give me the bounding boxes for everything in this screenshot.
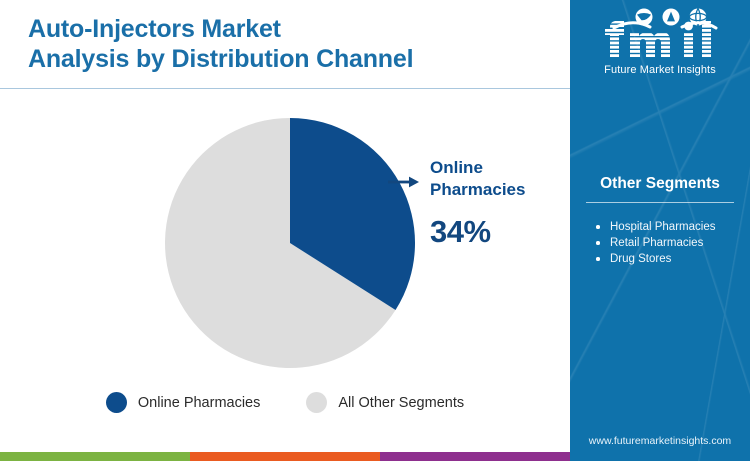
color-bar-segment-purple [380,452,570,461]
legend-item-online-pharmacies: Online Pharmacies [106,392,261,413]
logo-tagline: Future Market Insights [570,64,750,76]
pie-chart-graphic [165,118,415,368]
page-title: Auto-Injectors Market Analysis by Distri… [28,14,548,74]
circle-swatch-icon [106,392,127,413]
other-segments-panel: Other Segments Hospital Pharmacies Retai… [570,175,750,267]
list-item: Retail Pharmacies [594,235,750,251]
title-line-1: Auto-Injectors Market [28,14,548,44]
other-segments-title: Other Segments [570,175,750,193]
callout-text-block: Online Pharmacies 34% [430,157,565,249]
other-segments-divider [586,202,734,203]
chart-legend: Online Pharmacies All Other Segments [0,392,570,413]
arrow-right-icon [388,176,420,188]
color-bar-segment-orange [190,452,380,461]
sidebar: Future Market Insights Other Segments Ho… [570,0,750,461]
website-url[interactable]: www.futuremarketinsights.com [570,435,750,447]
fmi-logo: Future Market Insights [570,8,750,76]
list-item: Hospital Pharmacies [594,219,750,235]
callout-label-line-1: Online [430,157,565,179]
legend-label: All Other Segments [338,395,464,411]
legend-item-all-other-segments: All Other Segments [306,392,464,413]
list-item: Drug Stores [594,251,750,267]
callout-percentage-value: 34% [430,215,565,249]
circle-swatch-icon [306,392,327,413]
pie-chart: Online Pharmacies 34% [0,95,570,385]
legend-label: Online Pharmacies [138,395,261,411]
callout-label-line-2: Pharmacies [430,179,565,201]
fmi-wordmark-icon [596,8,724,62]
other-segments-list: Hospital Pharmacies Retail Pharmacies Dr… [570,219,750,267]
title-line-2: Analysis by Distribution Channel [28,44,548,74]
bottom-color-bar [0,452,570,461]
color-bar-segment-green [0,452,190,461]
infographic-page: Auto-Injectors Market Analysis by Distri… [0,0,750,461]
content-area: Auto-Injectors Market Analysis by Distri… [0,0,570,461]
title-divider [0,88,570,89]
